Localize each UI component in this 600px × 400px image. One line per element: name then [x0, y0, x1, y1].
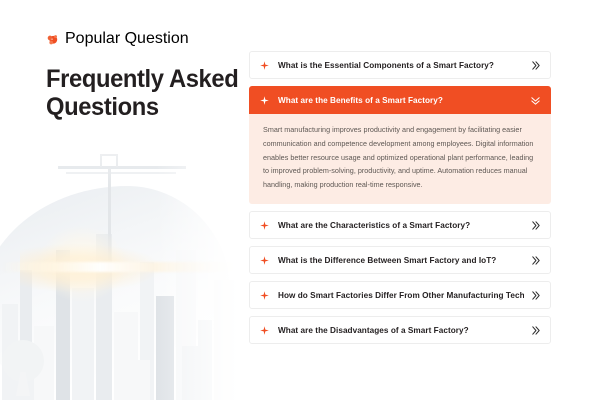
- sparkle-badge-icon: [46, 33, 59, 46]
- chevron-double-down-icon[interactable]: [530, 95, 541, 106]
- faq-question-text: How do Smart Factories Differ From Other…: [278, 291, 524, 300]
- eyebrow-label: Popular Question: [65, 30, 189, 48]
- faq-item: What is the Difference Between Smart Fac…: [249, 246, 551, 274]
- chevron-double-right-icon[interactable]: [530, 255, 541, 266]
- faq-question-row[interactable]: What is the Essential Components of a Sm…: [249, 51, 551, 79]
- four-point-star-icon: [260, 96, 269, 105]
- faq-item: What are the Disadvantages of a Smart Fa…: [249, 316, 551, 344]
- four-point-star-icon: [260, 61, 269, 70]
- faq-question-text: What are the Characteristics of a Smart …: [278, 221, 524, 230]
- four-point-star-icon: [260, 326, 269, 335]
- page-title: Frequently Asked Questions: [46, 65, 246, 121]
- faq-item: How do Smart Factories Differ From Other…: [249, 281, 551, 309]
- faq-question-row[interactable]: What are the Characteristics of a Smart …: [249, 211, 551, 239]
- intro-block: Popular Question Frequently Asked Questi…: [46, 30, 256, 138]
- four-point-star-icon: [260, 291, 269, 300]
- faq-question-text: What is the Difference Between Smart Fac…: [278, 256, 524, 265]
- chevron-double-right-icon[interactable]: [530, 220, 541, 231]
- chevron-double-right-icon[interactable]: [530, 60, 541, 71]
- four-point-star-icon: [260, 221, 269, 230]
- faq-question-row[interactable]: What are the Benefits of a Smart Factory…: [249, 86, 551, 114]
- faq-question-row[interactable]: What are the Disadvantages of a Smart Fa…: [249, 316, 551, 344]
- faq-question-row[interactable]: What is the Difference Between Smart Fac…: [249, 246, 551, 274]
- faq-item: What are the Characteristics of a Smart …: [249, 211, 551, 239]
- faq-item: What is the Essential Components of a Sm…: [249, 51, 551, 79]
- faq-answer-text: Smart manufacturing improves productivit…: [249, 114, 551, 204]
- faq-question-text: What are the Disadvantages of a Smart Fa…: [278, 326, 524, 335]
- faq-question-row[interactable]: How do Smart Factories Differ From Other…: [249, 281, 551, 309]
- chevron-double-right-icon[interactable]: [530, 325, 541, 336]
- four-point-star-icon: [260, 256, 269, 265]
- chevron-double-right-icon[interactable]: [530, 290, 541, 301]
- faq-accordion: What is the Essential Components of a Sm…: [249, 51, 551, 344]
- faq-item: What are the Benefits of a Smart Factory…: [249, 86, 551, 204]
- eyebrow: Popular Question: [46, 30, 256, 48]
- faq-question-text: What are the Benefits of a Smart Factory…: [278, 96, 524, 105]
- faq-question-text: What is the Essential Components of a Sm…: [278, 61, 524, 70]
